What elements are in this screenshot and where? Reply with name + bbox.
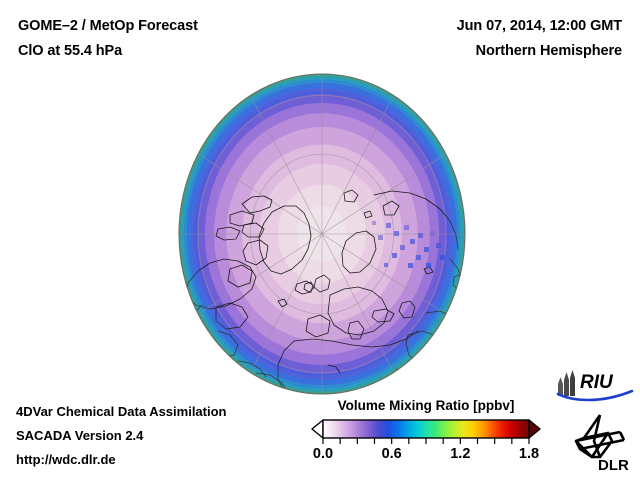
instrument-title: GOME–2 / MetOp Forecast bbox=[18, 18, 198, 34]
riu-wordmark: RIU bbox=[580, 372, 614, 393]
limb-shading bbox=[179, 74, 465, 394]
version-label: SACADA Version 2.4 bbox=[16, 428, 143, 443]
dlr-emblem-icon bbox=[576, 415, 624, 457]
timestamp-label: Jun 07, 2014, 12:00 GMT bbox=[457, 18, 622, 34]
website-url[interactable]: http://wdc.dlr.de bbox=[16, 452, 116, 467]
colorbar-title: Volume Mixing Ratio [ppbv] bbox=[306, 398, 546, 413]
orthographic-projection bbox=[178, 73, 466, 395]
hemisphere-label: Northern Hemisphere bbox=[476, 43, 622, 59]
colorbar-tick-label: 0.0 bbox=[313, 446, 333, 462]
colorbar: Volume Mixing Ratio [ppbv] 0.00.61.21.8 bbox=[306, 398, 546, 476]
dlr-wordmark: DLR bbox=[598, 457, 629, 473]
species-subtitle: ClO at 55.4 hPa bbox=[18, 43, 122, 59]
colorbar-tick-labels: 0.00.61.21.8 bbox=[306, 446, 546, 468]
assimilation-label: 4DVar Chemical Data Assimilation bbox=[16, 404, 227, 419]
visualization-page: GOME–2 / MetOp Forecast ClO at 55.4 hPa … bbox=[0, 0, 640, 480]
colorbar-tick-label: 1.2 bbox=[450, 446, 470, 462]
colorbar-body bbox=[323, 420, 529, 438]
dlr-logo: DLR bbox=[564, 411, 636, 473]
riu-logo: RIU bbox=[556, 368, 634, 406]
riu-tower-icon bbox=[558, 370, 575, 396]
colorbar-tickmarks bbox=[323, 438, 529, 444]
colorbar-min-arrow bbox=[312, 420, 323, 438]
colorbar-max-arrow bbox=[529, 420, 540, 438]
colorbar-tick-label: 0.6 bbox=[382, 446, 402, 462]
colorbar-tick-label: 1.8 bbox=[519, 446, 539, 462]
globe-map bbox=[178, 73, 466, 395]
